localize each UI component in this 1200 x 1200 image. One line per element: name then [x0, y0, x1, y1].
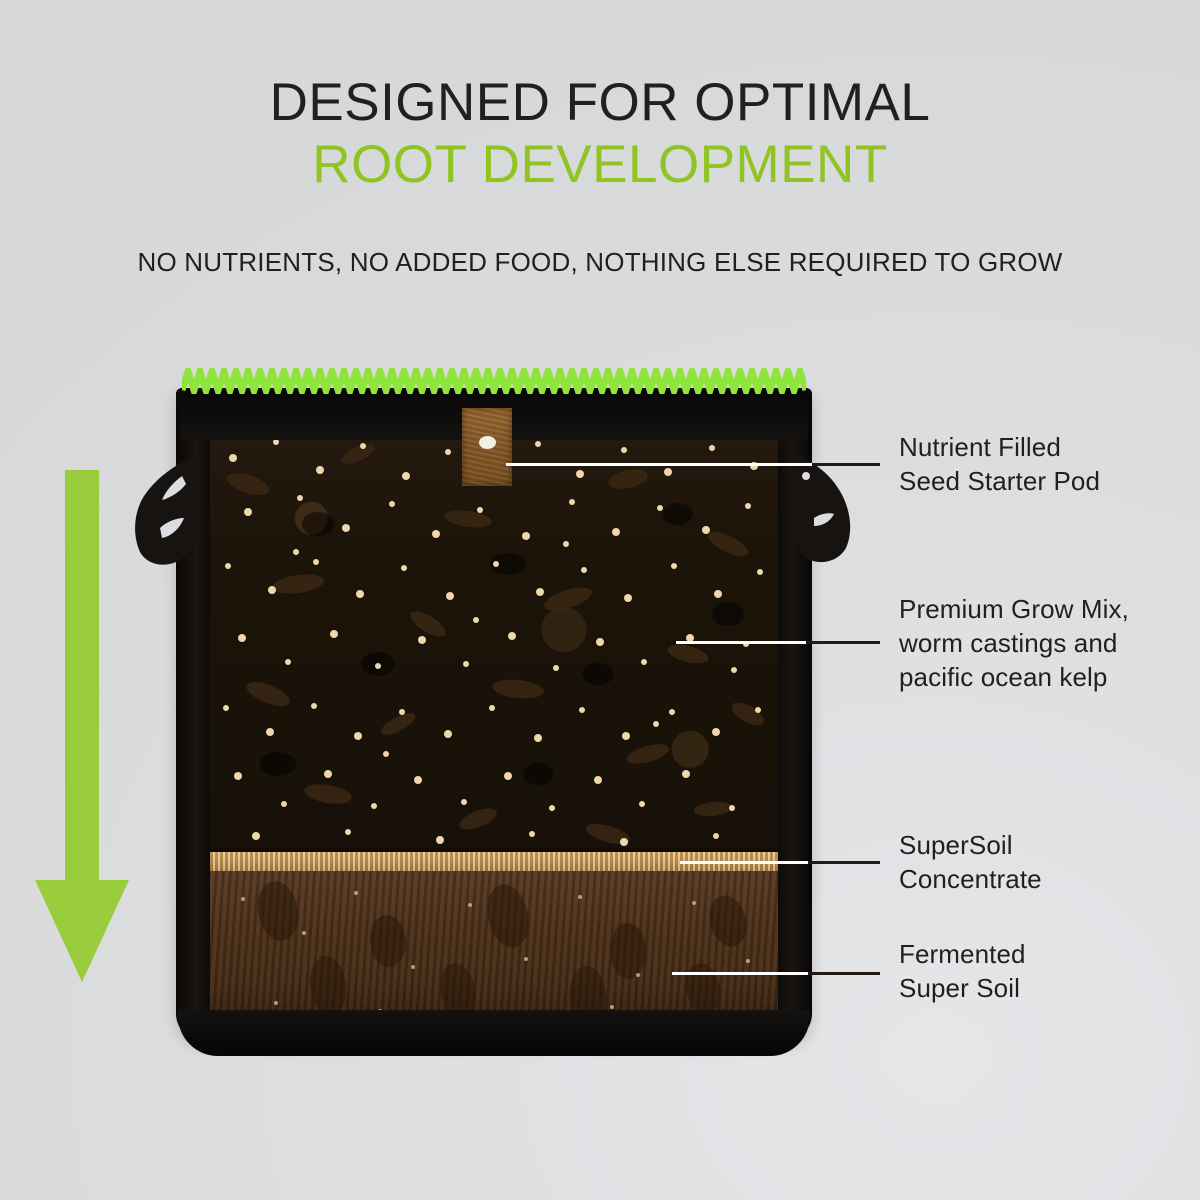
infographic-canvas: DESIGNED FOR OPTIMAL ROOT DEVELOPMENT NO…: [0, 0, 1200, 1200]
layer-premium-grow-mix: [208, 424, 782, 852]
layer-fermented-super-soil: [208, 871, 782, 1023]
bag-handle-right: [778, 454, 864, 566]
callout-grow-mix-label: Premium Grow Mix, worm castings and paci…: [899, 592, 1129, 694]
subtitle-text: NO NUTRIENTS, NO ADDED FOOD, NOTHING ELS…: [0, 246, 1200, 278]
arrow-icon: [28, 470, 138, 982]
fabric-grow-bag: [168, 368, 820, 1050]
seed-pod-hole: [479, 436, 496, 449]
callout-seed-pod-label: Nutrient Filled Seed Starter Pod: [899, 430, 1100, 498]
headline-line-1: DESIGNED FOR OPTIMAL: [0, 72, 1200, 134]
headline-line-2: ROOT DEVELOPMENT: [0, 134, 1200, 196]
perlite-speck-texture: [208, 424, 782, 852]
downward-growth-arrow: [28, 470, 138, 982]
seed-starter-pod: [462, 408, 512, 486]
super-soil-texture: [208, 871, 782, 1023]
bag-bottom-seam: [178, 1010, 810, 1056]
bag-handle-left: [130, 456, 216, 568]
leader-line-grow-mix: [676, 641, 880, 644]
leader-line-super-soil: [672, 972, 880, 975]
page-title: DESIGNED FOR OPTIMAL ROOT DEVELOPMENT: [0, 72, 1200, 196]
leader-line-seed-pod: [506, 463, 880, 466]
leader-line-concentrate: [680, 861, 880, 864]
callout-concentrate-label: SuperSoil Concentrate: [899, 828, 1042, 896]
green-zigzag-stitch-icon: [182, 368, 806, 394]
callout-super-soil-label: Fermented Super Soil: [899, 937, 1026, 1005]
